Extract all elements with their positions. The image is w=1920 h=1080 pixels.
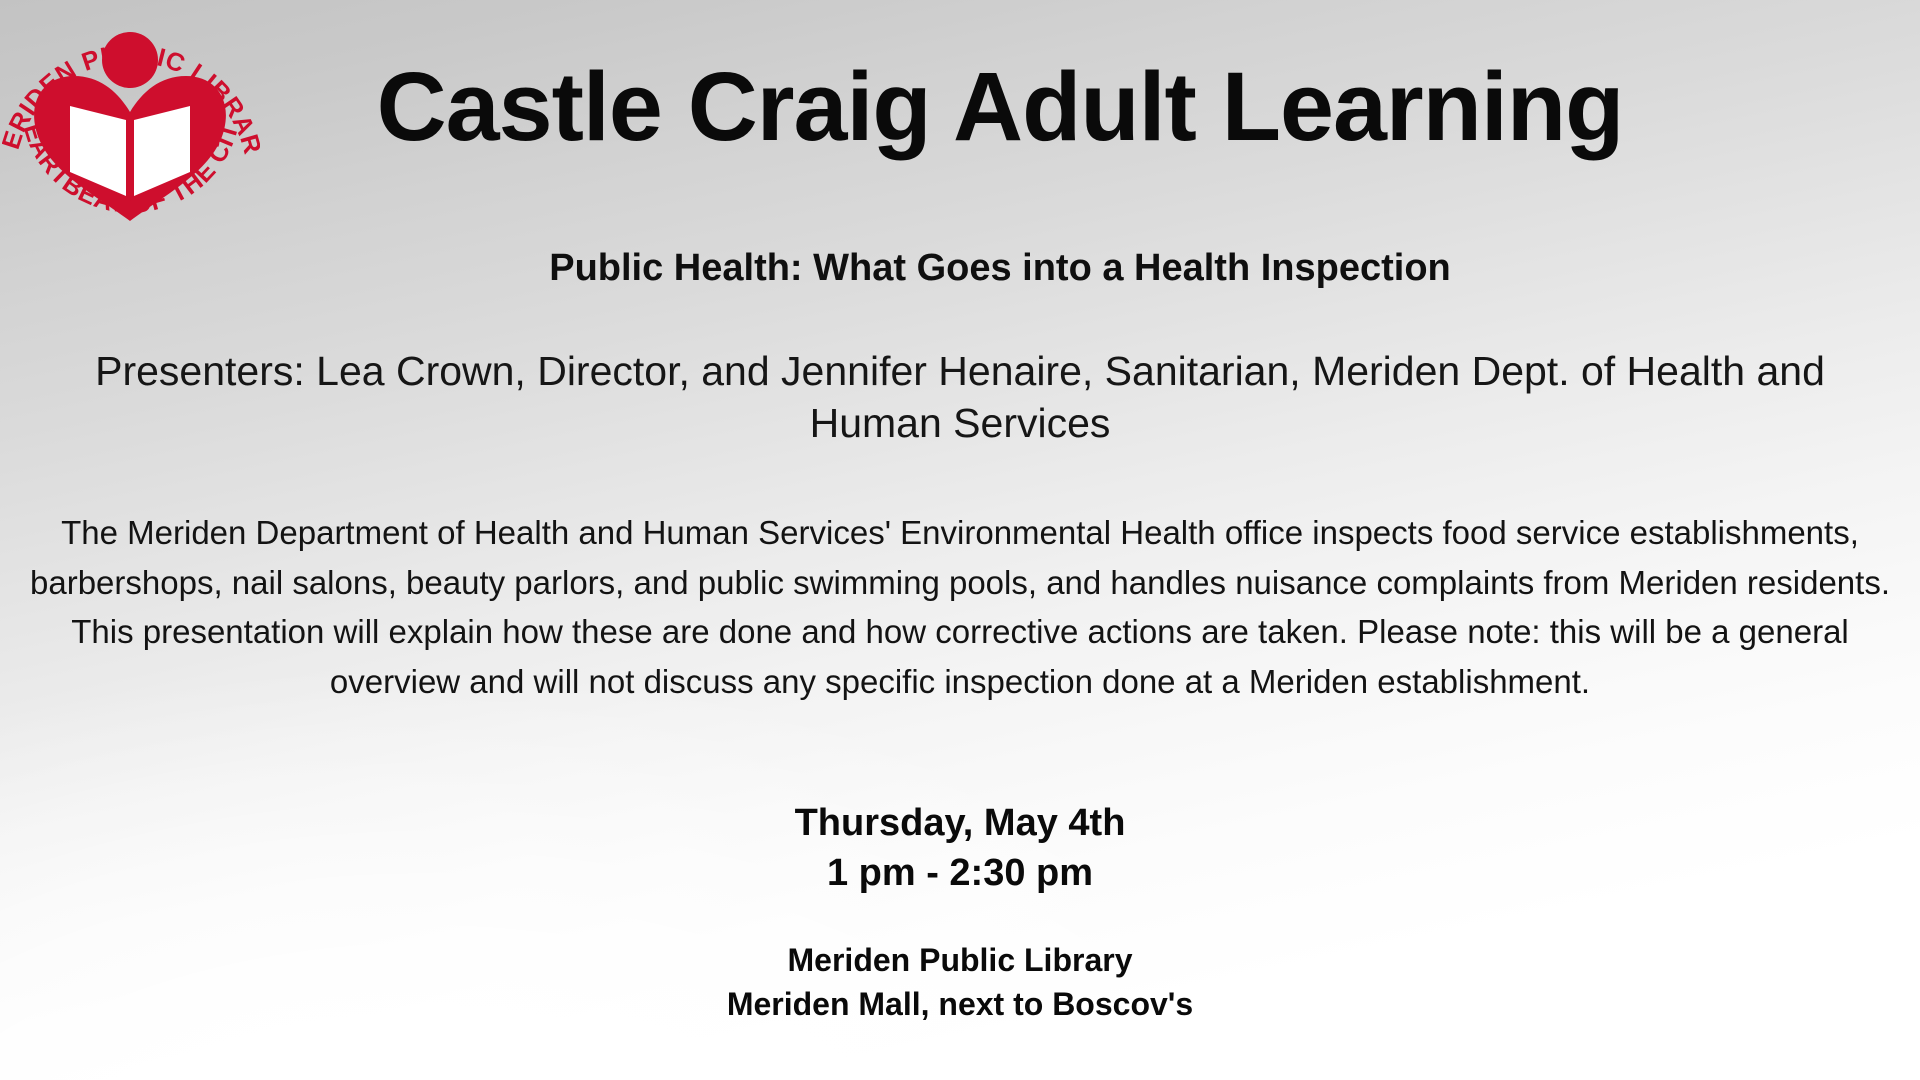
event-datetime-block: Thursday, May 4th 1 pm - 2:30 pm xyxy=(0,798,1920,898)
venue-address: Meriden Mall, next to Boscov's xyxy=(0,982,1920,1026)
venue-name: Meriden Public Library xyxy=(0,938,1920,982)
description-block: The Meriden Department of Health and Hum… xyxy=(0,508,1920,706)
logo-book-spine-icon xyxy=(126,120,134,201)
flyer-canvas: MERIDEN PUBLIC LIBRARY HEARTBEAT OF THE … xyxy=(0,0,1920,1080)
subtitle-block: Public Health: What Goes into a Health I… xyxy=(260,246,1740,292)
presenters-text: Presenters: Lea Crown, Director, and Jen… xyxy=(30,345,1890,450)
logo-reader-head-icon xyxy=(102,32,158,88)
title-row: Castle Craig Adult Learning xyxy=(260,56,1740,159)
venue-block: Meriden Public Library Meriden Mall, nex… xyxy=(0,938,1920,1026)
presenters-block: Presenters: Lea Crown, Director, and Jen… xyxy=(0,345,1920,450)
page-title: Castle Craig Adult Learning xyxy=(260,56,1740,159)
meriden-public-library-logo: MERIDEN PUBLIC LIBRARY HEARTBEAT OF THE … xyxy=(2,2,260,257)
program-subtitle: Public Health: What Goes into a Health I… xyxy=(260,246,1740,292)
description-text: The Meriden Department of Health and Hum… xyxy=(18,508,1902,706)
event-date: Thursday, May 4th xyxy=(0,798,1920,848)
event-time: 1 pm - 2:30 pm xyxy=(0,848,1920,898)
